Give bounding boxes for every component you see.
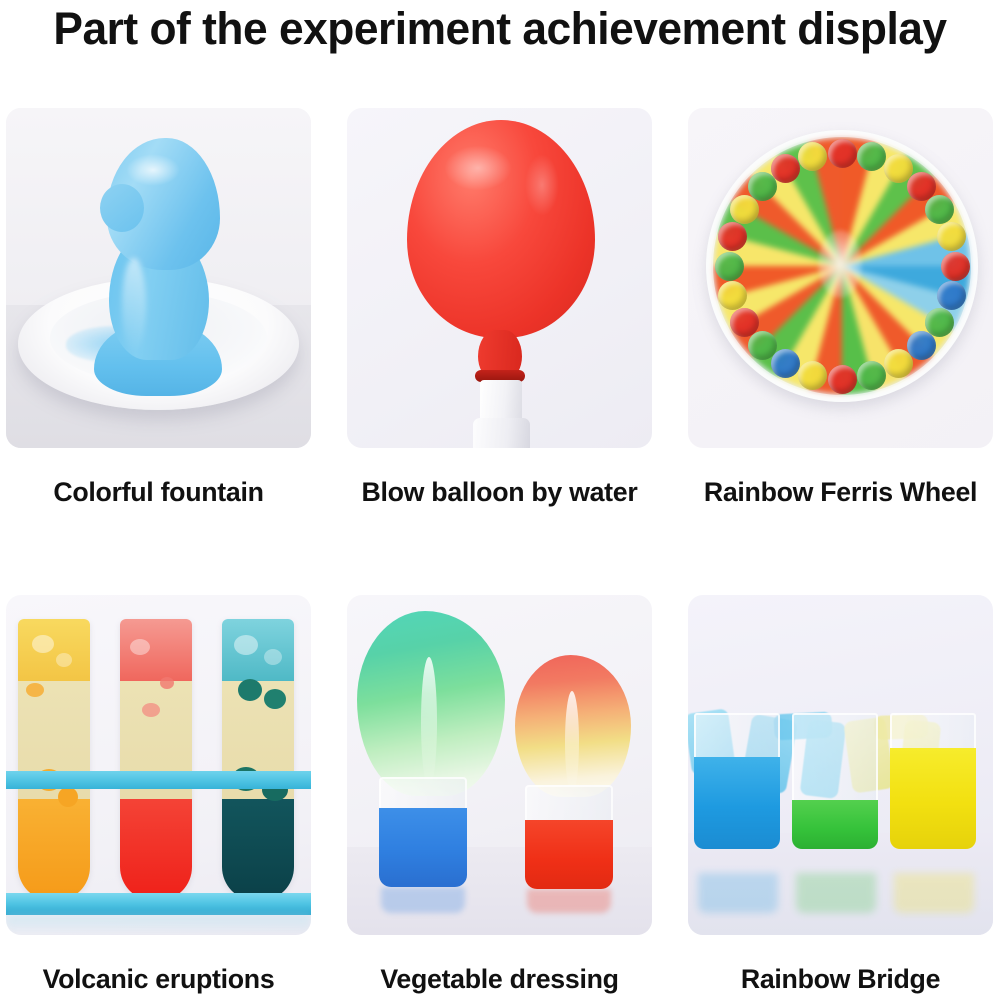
tile-caption-rainbow-bridge: Rainbow Bridge <box>690 966 992 993</box>
tile-image-rainbow-bridge[interactable] <box>688 595 993 935</box>
candy <box>798 361 827 390</box>
beaker-green-reflection <box>796 873 876 913</box>
red-water <box>525 820 613 889</box>
candy <box>771 154 800 183</box>
candy <box>715 252 744 281</box>
beaker-blue-reflection <box>698 873 778 913</box>
bubble <box>264 689 286 709</box>
blue-liquid <box>694 757 780 849</box>
tile-image-vegetable-dressing[interactable] <box>347 595 652 935</box>
bubble <box>32 635 54 653</box>
beaker-yellow-reflection <box>894 873 974 913</box>
bottle-body <box>473 418 530 448</box>
candy <box>748 331 777 360</box>
grid-cell-volcanic-eruptions: Volcanic eruptions <box>6 595 311 993</box>
experiment-grid: Colorful fountain Blow balloon by water … <box>6 108 994 993</box>
tile-image-colorful-fountain[interactable] <box>6 108 311 448</box>
yellow-liquid <box>890 748 976 849</box>
bubble <box>58 787 78 807</box>
grid-cell-rainbow-ferris-wheel: Rainbow Ferris Wheel <box>688 108 993 506</box>
beaker-blue-reflection <box>381 887 465 913</box>
blue-water <box>379 808 467 887</box>
bubble <box>26 683 44 697</box>
tile-caption-blow-balloon-by-water: Blow balloon by water <box>349 479 651 506</box>
foam-highlight-top <box>126 154 180 186</box>
foam-highlight-side <box>122 258 146 354</box>
bubble <box>56 653 72 667</box>
rack-shadow <box>6 915 311 935</box>
candy <box>857 361 886 390</box>
tube-1-top-layer <box>18 619 90 681</box>
grid-cell-blow-balloon-by-water: Blow balloon by water <box>347 108 652 506</box>
beaker-green <box>792 713 878 849</box>
tube-rack-mid-bar <box>6 771 311 789</box>
petri-dish <box>706 130 978 402</box>
candy <box>937 222 966 251</box>
foam-bump <box>100 184 144 232</box>
candy <box>828 365 857 394</box>
tube-3-top-layer <box>222 619 294 681</box>
tube-rack-base <box>6 893 311 915</box>
candy <box>718 281 747 310</box>
candy <box>937 281 966 310</box>
grid-cell-rainbow-bridge: Rainbow Bridge <box>688 595 993 993</box>
green-liquid <box>792 800 878 849</box>
tube-2-bottom-layer <box>120 799 192 901</box>
candy <box>857 142 886 171</box>
page-title: Part of the experiment achievement displ… <box>8 0 993 60</box>
grid-cell-vegetable-dressing: Vegetable dressing <box>347 595 652 993</box>
tile-caption-colorful-fountain: Colorful fountain <box>8 479 310 506</box>
bubble <box>234 635 258 655</box>
bubble <box>142 703 160 717</box>
beaker-blue <box>694 713 780 849</box>
tile-caption-volcanic-eruptions: Volcanic eruptions <box>8 966 310 993</box>
tile-caption-rainbow-ferris-wheel: Rainbow Ferris Wheel <box>690 479 992 506</box>
beaker-yellow <box>890 713 976 849</box>
candy <box>730 308 759 337</box>
tile-image-volcanic-eruptions[interactable] <box>6 595 311 935</box>
balloon-highlight-secondary <box>525 154 559 216</box>
beaker-red <box>525 785 613 889</box>
test-tube-2 <box>120 619 192 901</box>
test-tube-1 <box>18 619 90 901</box>
tube-3-bottom-layer <box>222 799 294 901</box>
bubble <box>130 639 150 655</box>
candy <box>730 195 759 224</box>
leaf-vein <box>565 691 579 793</box>
grid-cell-colorful-fountain: Colorful fountain <box>6 108 311 506</box>
tile-caption-vegetable-dressing: Vegetable dressing <box>349 966 651 993</box>
test-tube-3 <box>222 619 294 901</box>
bubble <box>160 677 174 689</box>
bubble <box>238 679 262 701</box>
tube-1-bottom-layer <box>18 799 90 901</box>
bubble <box>264 649 282 665</box>
candy <box>828 139 857 168</box>
candy <box>941 252 970 281</box>
dish-rim <box>706 130 978 402</box>
balloon-highlight-primary <box>445 146 511 190</box>
leaf-vein <box>421 657 437 787</box>
beaker-red-reflection <box>527 889 611 913</box>
tile-image-rainbow-ferris-wheel[interactable] <box>688 108 993 448</box>
beaker-blue <box>379 777 467 887</box>
tile-image-blow-balloon-by-water[interactable] <box>347 108 652 448</box>
